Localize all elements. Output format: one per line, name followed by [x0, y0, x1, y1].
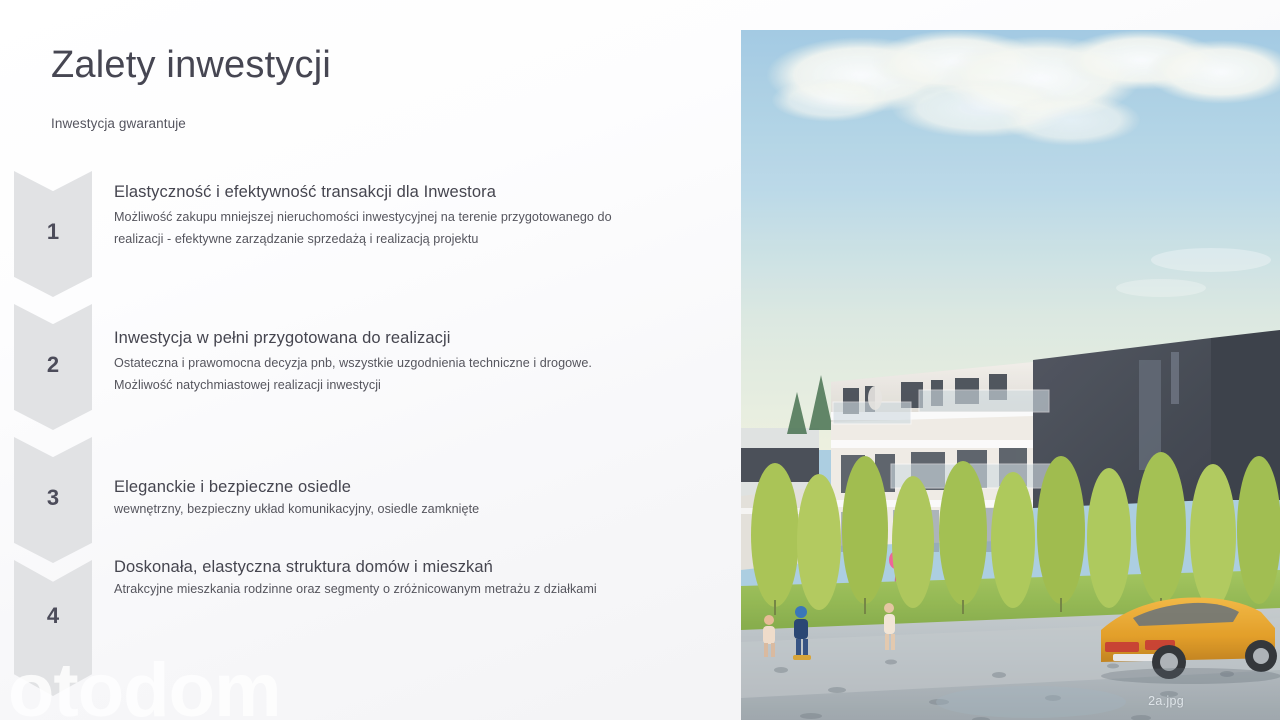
benefit-desc-4: Atrakcyjne mieszkania rodzinne oraz segm…: [114, 579, 714, 601]
step-number-3: 3: [47, 485, 59, 511]
benefit-title-3: Eleganckie i bezpieczne osiedle: [114, 477, 714, 498]
benefit-desc-1-line1: Możliwość zakupu mniejszej nieruchomości…: [114, 207, 714, 229]
benefit-desc-1: Możliwość zakupu mniejszej nieruchomości…: [114, 207, 714, 250]
benefit-desc-1-line2: realizacji - efektywne zarządzanie sprze…: [114, 229, 714, 251]
benefit-title-1: Elastyczność i efektywność transakcji dl…: [114, 182, 714, 203]
render-image: 2a.jpg: [741, 30, 1280, 720]
step-badge-1: 1: [14, 171, 92, 297]
benefit-desc-2: Ostateczna i prawomocna decyzja pnb, wsz…: [114, 353, 714, 396]
content-panel: Zalety inwestycji Inwestycja gwarantuje …: [0, 0, 741, 720]
benefit-item-1: Elastyczność i efektywność transakcji dl…: [114, 182, 714, 251]
step-badge-4: 4: [14, 560, 92, 696]
benefit-desc-2-line2: Możliwość natychmiastowej realizacji inw…: [114, 375, 714, 397]
architectural-render-illustration: [741, 30, 1280, 720]
benefit-item-4: Doskonała, elastyczna struktura domów i …: [114, 557, 714, 601]
step-badge-3: 3: [14, 437, 92, 563]
benefit-item-2: Inwestycja w pełni przygotowana do reali…: [114, 328, 714, 397]
benefit-desc-3-line1: wewnętrzny, bezpieczny układ komunikacyj…: [114, 499, 714, 521]
benefit-item-3: Eleganckie i bezpieczne osiedle wewnętrz…: [114, 477, 714, 521]
step-number-1: 1: [47, 219, 59, 245]
slide-subtitle: Inwestycja gwarantuje: [51, 116, 186, 131]
benefit-desc-4-line1: Atrakcyjne mieszkania rodzinne oraz segm…: [114, 579, 714, 601]
benefit-title-2: Inwestycja w pełni przygotowana do reali…: [114, 328, 714, 349]
slide-root: Zalety inwestycji Inwestycja gwarantuje …: [0, 0, 1280, 720]
benefit-title-4: Doskonała, elastyczna struktura domów i …: [114, 557, 714, 578]
benefit-desc-2-line1: Ostateczna i prawomocna decyzja pnb, wsz…: [114, 353, 714, 375]
image-filename-label: 2a.jpg: [1148, 694, 1184, 708]
page-title: Zalety inwestycji: [51, 44, 331, 88]
step-number-4: 4: [47, 603, 59, 629]
step-badge-2: 2: [14, 304, 92, 430]
step-number-2: 2: [47, 352, 59, 378]
benefit-desc-3: wewnętrzny, bezpieczny układ komunikacyj…: [114, 499, 714, 521]
